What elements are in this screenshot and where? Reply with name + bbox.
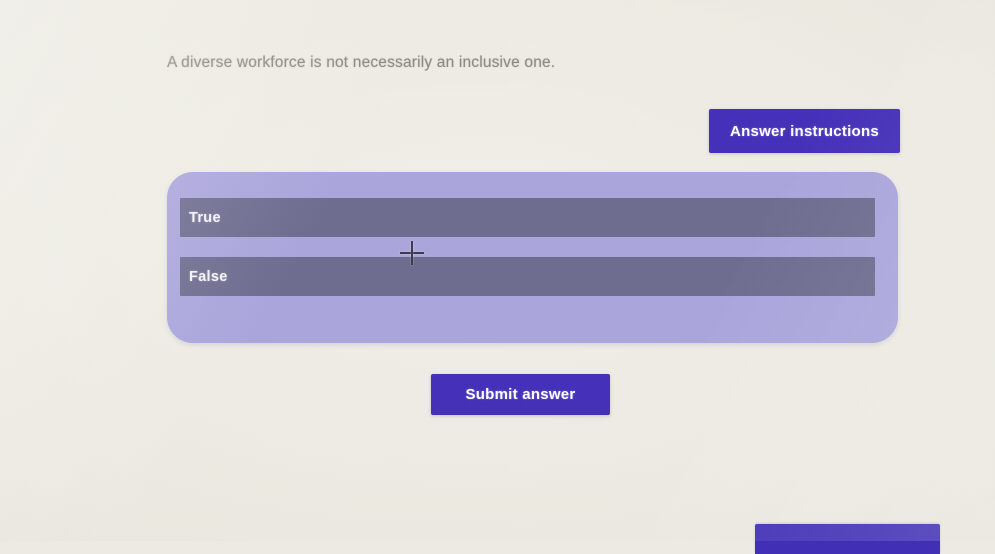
submit-answer-button[interactable]: Submit answer: [431, 374, 610, 415]
answer-options-panel: True False: [167, 172, 898, 343]
quiz-screen: A diverse workforce is not necessarily a…: [0, 0, 995, 541]
question-prompt: A diverse workforce is not necessarily a…: [167, 50, 807, 76]
answer-instructions-button[interactable]: Answer instructions: [709, 109, 900, 153]
answer-option-label: False: [189, 269, 228, 285]
bottom-partial-button[interactable]: [755, 524, 940, 554]
answer-option-false[interactable]: False: [180, 257, 875, 296]
answer-option-true[interactable]: True: [180, 198, 875, 237]
answer-option-label: True: [189, 210, 221, 226]
